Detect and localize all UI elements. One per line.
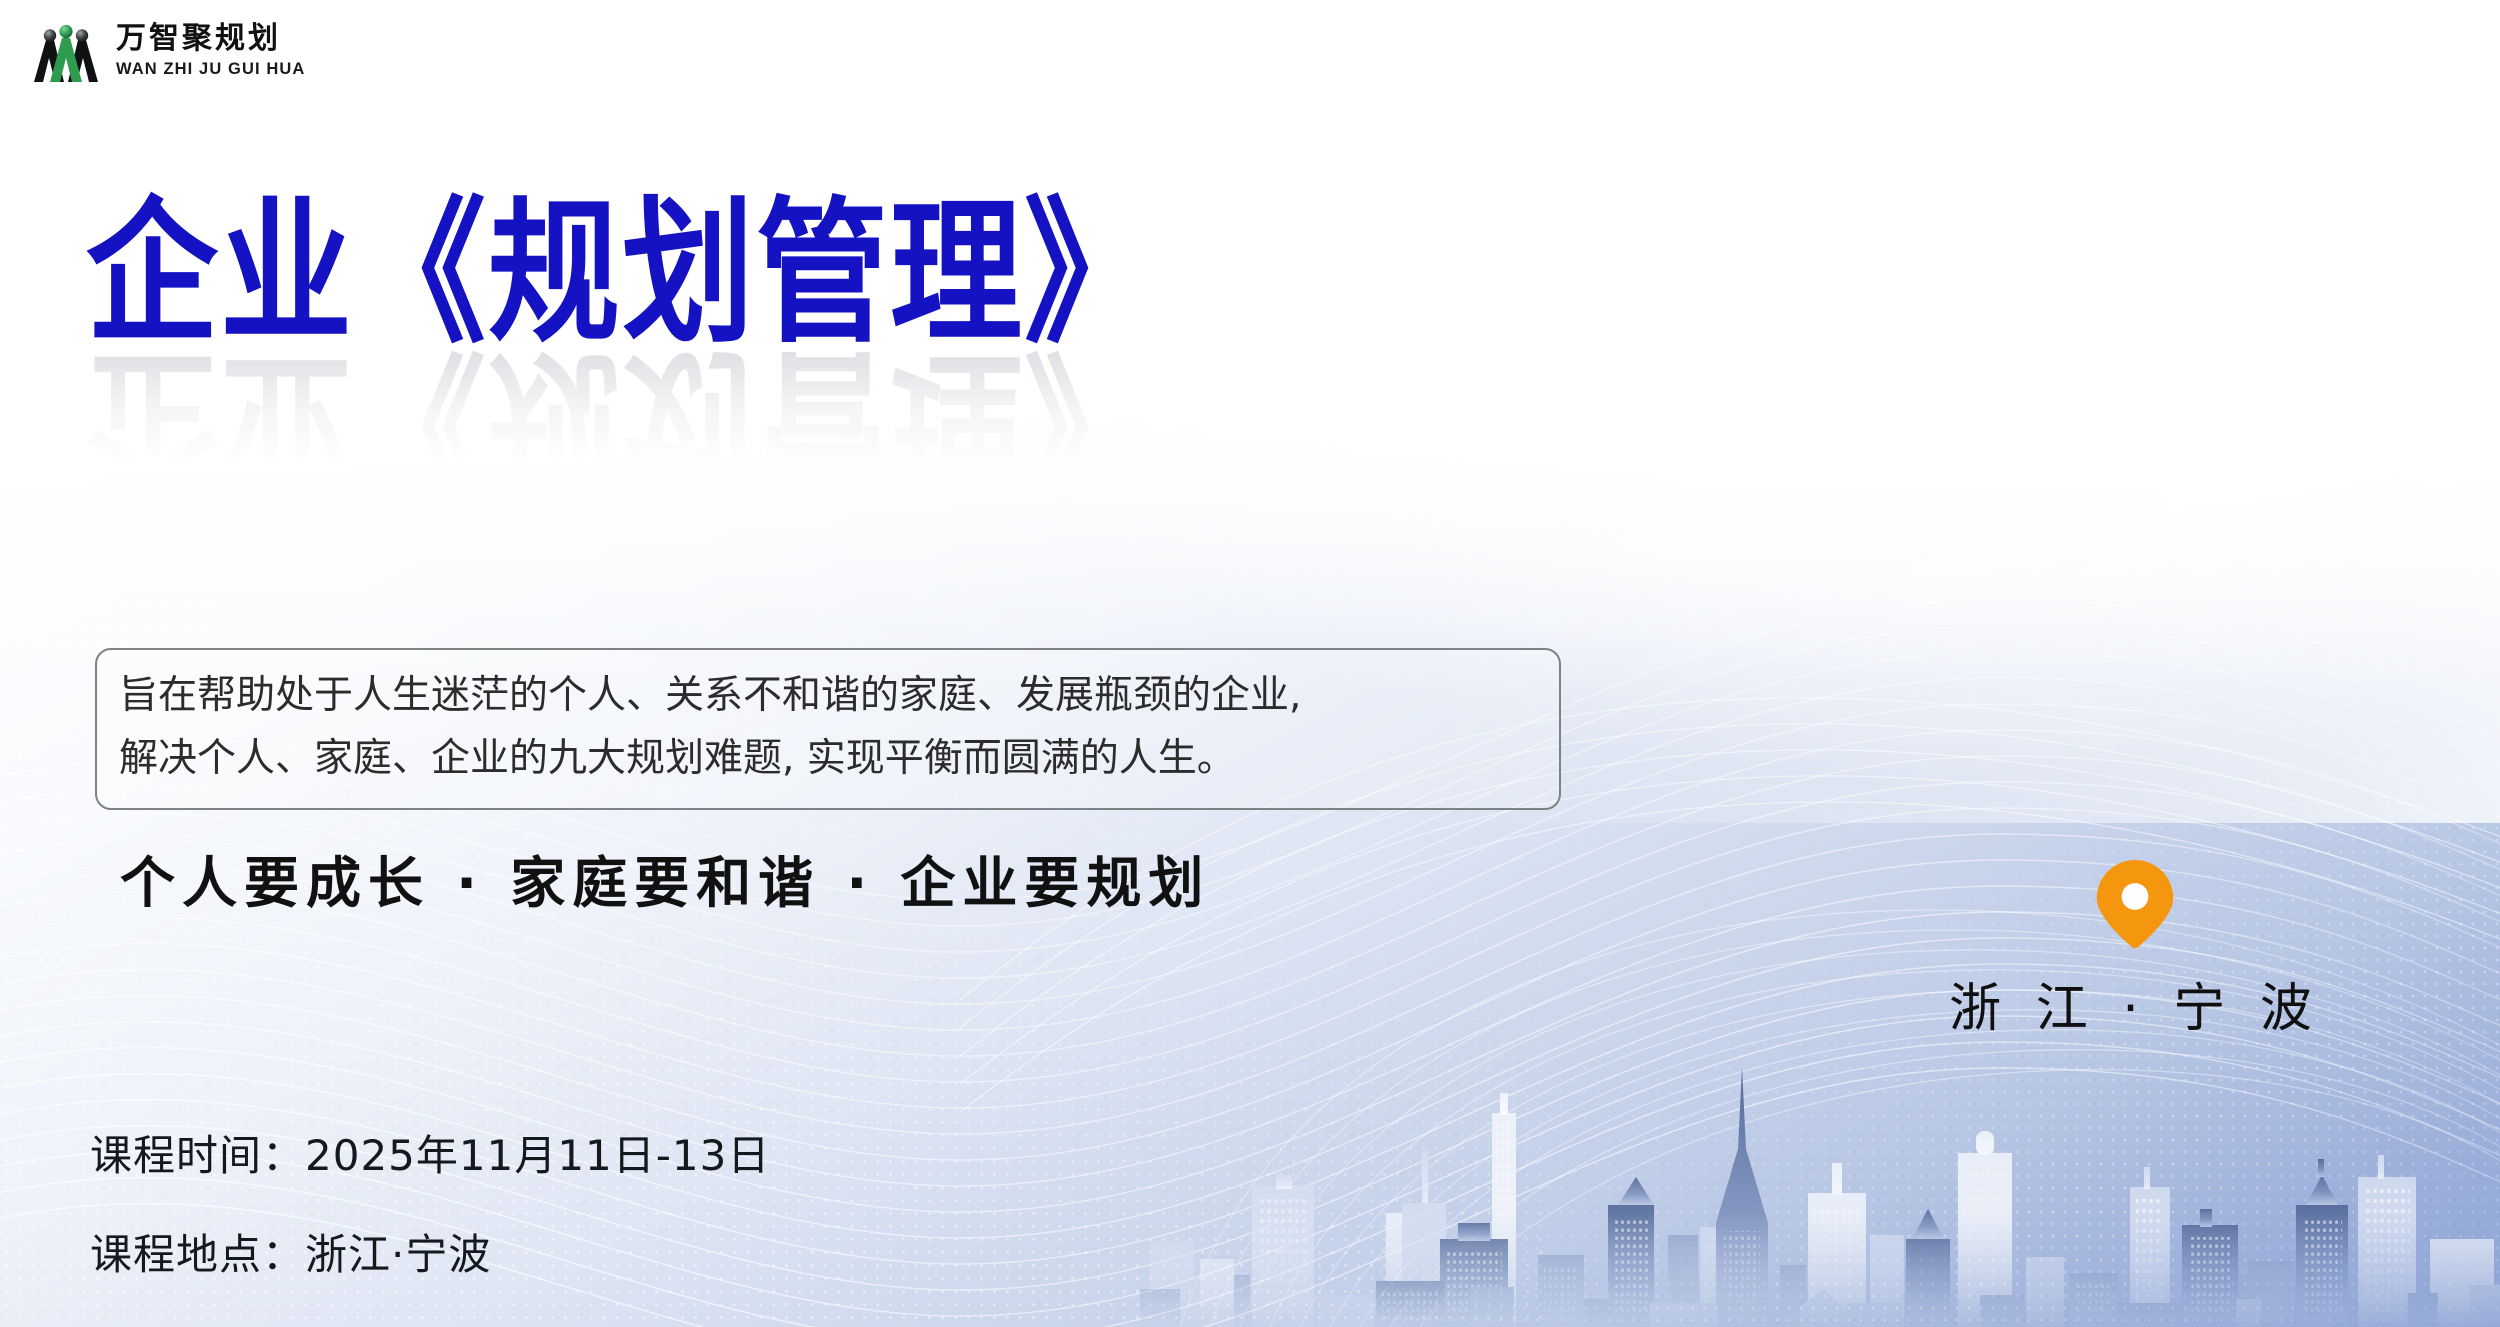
description-line-2: 解决个人、家庭、企业的九大规划难题, 实现平衡而圆满的人生。 [119, 727, 1537, 790]
description-box: 旨在帮助处于人生迷茫的个人、关系不和谐的家庭、发展瓶颈的企业, 解决个人、家庭、… [95, 648, 1561, 810]
page-title-reflection: 企业《规划管理》 [86, 342, 1686, 498]
course-time: 课程时间：2025年11月11日-13日 [90, 1122, 770, 1183]
brand-name-cn: 万智聚规划 [116, 24, 305, 54]
course-place: 课程地点：浙江·宁波 [90, 1221, 770, 1282]
location-badge: 浙 江 · 宁 波 [1945, 858, 2325, 1041]
slogan-text: 个人要成长 · 家庭要和谐 · 企业要规划 [120, 838, 1210, 918]
poster-canvas: 万智聚规划 WAN ZHI JU GUI HUA 企业《规划管理》 企业《规划管… [0, 0, 2500, 1327]
three-people-m-logo-icon [30, 18, 102, 84]
course-info-block: 课程时间：2025年11月11日-13日 课程地点：浙江·宁波 [90, 1122, 770, 1282]
hero-title-block: 企业《规划管理》 企业《规划管理》 [86, 196, 1686, 630]
brand-logo: 万智聚规划 WAN ZHI JU GUI HUA [30, 18, 305, 84]
location-label: 浙 江 · 宁 波 [1949, 966, 2321, 1041]
brand-name-en: WAN ZHI JU GUI HUA [116, 61, 305, 78]
city-skyline-illustration-icon [1140, 1027, 2500, 1327]
description-line-1: 旨在帮助处于人生迷茫的个人、关系不和谐的家庭、发展瓶颈的企业, [119, 664, 1537, 727]
map-pin-icon [2094, 858, 2176, 950]
page-title: 企业《规划管理》 [86, 196, 1686, 352]
brand-logo-text: 万智聚规划 WAN ZHI JU GUI HUA [116, 24, 305, 78]
